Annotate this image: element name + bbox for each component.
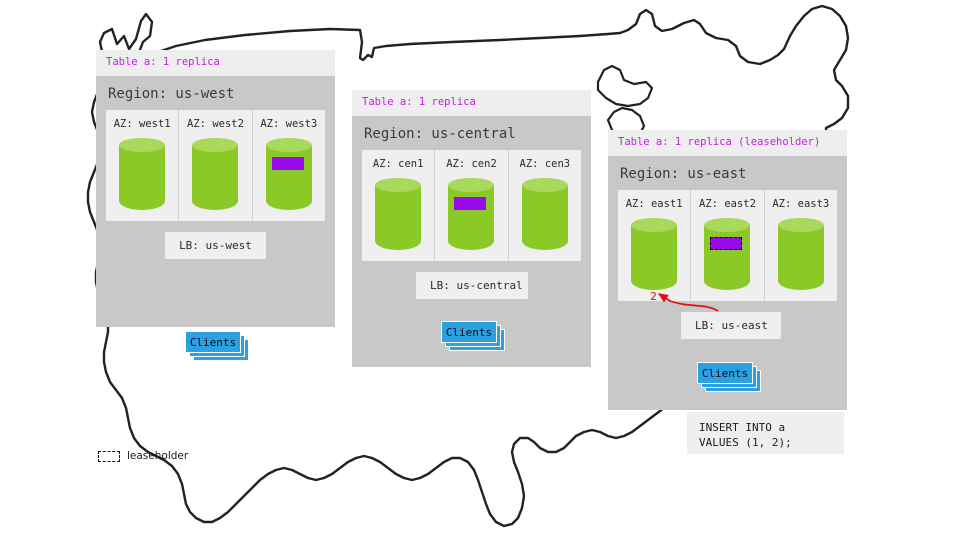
cylinder-top bbox=[778, 218, 824, 232]
panel-title-us-east: Table a: 1 replica (leaseholder) bbox=[608, 130, 847, 156]
dashed-rect-icon bbox=[98, 451, 120, 462]
node-cylinder-cen3[interactable] bbox=[522, 178, 568, 245]
clients-label: Clients bbox=[441, 321, 497, 343]
az-row-us-central: AZ: cen1 AZ: cen2 AZ: cen3 bbox=[362, 150, 581, 261]
az-cell-east3[interactable]: AZ: east3 bbox=[765, 190, 837, 301]
cylinder-top bbox=[631, 218, 677, 232]
legend-label: leaseholder bbox=[127, 450, 188, 462]
az-cell-west1[interactable]: AZ: west1 bbox=[106, 110, 179, 221]
range-replica-west3 bbox=[272, 157, 304, 170]
az-label-west3: AZ: west3 bbox=[260, 118, 317, 130]
cylinder-body bbox=[266, 145, 312, 210]
az-label-cen2: AZ: cen2 bbox=[446, 158, 497, 170]
cylinder-top bbox=[375, 178, 421, 192]
legend-leaseholder: leaseholder bbox=[98, 450, 188, 462]
diagram-stage: 2 Table a: 1 replica Region: us-west AZ:… bbox=[0, 0, 960, 540]
node-cylinder-east1[interactable] bbox=[631, 218, 677, 285]
az-label-cen3: AZ: cen3 bbox=[520, 158, 571, 170]
region-panel-us-central[interactable]: Table a: 1 replica Region: us-central AZ… bbox=[352, 90, 591, 367]
az-label-east1: AZ: east1 bbox=[626, 198, 683, 210]
cylinder-body bbox=[631, 225, 677, 290]
clients-stack-us-east[interactable]: Clients bbox=[697, 362, 753, 384]
load-balancer-us-east[interactable]: LB: us-east bbox=[681, 312, 781, 339]
panel-title-us-central: Table a: 1 replica bbox=[352, 90, 591, 116]
annotation-step-2: 2 bbox=[650, 290, 657, 303]
range-replica-cen2 bbox=[454, 197, 486, 210]
az-cell-east2[interactable]: AZ: east2 bbox=[691, 190, 764, 301]
az-label-east3: AZ: east3 bbox=[772, 198, 829, 210]
cylinder-top bbox=[266, 138, 312, 152]
az-cell-cen3[interactable]: AZ: cen3 bbox=[509, 150, 581, 261]
az-row-us-west: AZ: west1 AZ: west2 AZ: west3 bbox=[106, 110, 325, 221]
node-cylinder-cen1[interactable] bbox=[375, 178, 421, 245]
sql-statement-box: INSERT INTO a VALUES (1, 2); bbox=[687, 412, 844, 454]
node-cylinder-west2[interactable] bbox=[192, 138, 238, 205]
node-cylinder-west1[interactable] bbox=[119, 138, 165, 205]
region-label-us-east: Region: us-east bbox=[608, 156, 847, 190]
clients-label: Clients bbox=[185, 331, 241, 353]
cylinder-body bbox=[448, 185, 494, 250]
region-label-us-central: Region: us-central bbox=[352, 116, 591, 150]
region-panel-us-west[interactable]: Table a: 1 replica Region: us-west AZ: w… bbox=[96, 50, 335, 327]
cylinder-body bbox=[375, 185, 421, 250]
az-label-east2: AZ: east2 bbox=[699, 198, 756, 210]
az-cell-cen2[interactable]: AZ: cen2 bbox=[435, 150, 508, 261]
node-cylinder-east2[interactable] bbox=[704, 218, 750, 285]
clients-stack-us-central[interactable]: Clients bbox=[441, 321, 497, 343]
cylinder-top bbox=[522, 178, 568, 192]
cylinder-body bbox=[778, 225, 824, 290]
az-cell-cen1[interactable]: AZ: cen1 bbox=[362, 150, 435, 261]
az-label-west1: AZ: west1 bbox=[114, 118, 171, 130]
az-cell-west3[interactable]: AZ: west3 bbox=[253, 110, 325, 221]
panel-title-us-west: Table a: 1 replica bbox=[96, 50, 335, 76]
clients-stack-us-west[interactable]: Clients bbox=[185, 331, 241, 353]
region-panel-us-east[interactable]: Table a: 1 replica (leaseholder) Region:… bbox=[608, 130, 847, 410]
cylinder-body bbox=[522, 185, 568, 250]
az-row-us-east: AZ: east1 AZ: east2 AZ: east3 bbox=[618, 190, 837, 301]
az-label-cen1: AZ: cen1 bbox=[373, 158, 424, 170]
node-cylinder-west3[interactable] bbox=[266, 138, 312, 205]
load-balancer-us-west[interactable]: LB: us-west bbox=[165, 232, 266, 259]
node-cylinder-east3[interactable] bbox=[778, 218, 824, 285]
cylinder-body bbox=[192, 145, 238, 210]
node-cylinder-cen2[interactable] bbox=[448, 178, 494, 245]
az-cell-west2[interactable]: AZ: west2 bbox=[179, 110, 252, 221]
cylinder-top bbox=[119, 138, 165, 152]
region-label-us-west: Region: us-west bbox=[96, 76, 335, 110]
cylinder-body bbox=[704, 225, 750, 290]
clients-label: Clients bbox=[697, 362, 753, 384]
cylinder-body bbox=[119, 145, 165, 210]
az-label-west2: AZ: west2 bbox=[187, 118, 244, 130]
az-cell-east1[interactable]: AZ: east1 bbox=[618, 190, 691, 301]
range-replica-leaseholder-east2 bbox=[710, 237, 742, 250]
load-balancer-us-central[interactable]: LB: us-central bbox=[416, 272, 528, 299]
